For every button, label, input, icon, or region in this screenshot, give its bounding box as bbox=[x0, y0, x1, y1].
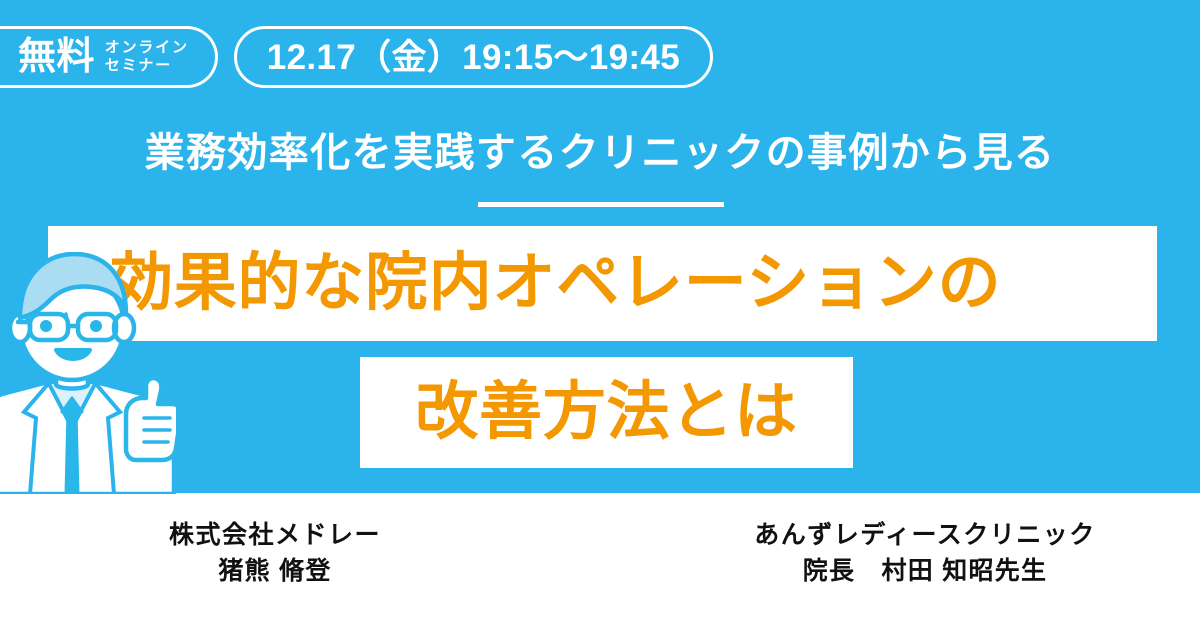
free-badge-sub: オンライン セミナー bbox=[105, 39, 189, 74]
badge-row: 無料 オンライン セミナー 12.17（金）19:15〜19:45 bbox=[0, 26, 713, 88]
free-badge-sub-line2: セミナー bbox=[105, 57, 172, 74]
headline-line-1: 効果的な院内オペレーションの bbox=[110, 252, 1001, 315]
speaker-left: 株式会社メドレー 猪熊 脩登 bbox=[60, 517, 490, 590]
headline-band-1: 効果的な院内オペレーションの bbox=[48, 226, 1157, 341]
free-badge-sub-line1: オンライン bbox=[105, 39, 189, 56]
free-badge-main: 無料 bbox=[18, 38, 95, 76]
subtitle-divider bbox=[478, 202, 724, 207]
speakers-section: 株式会社メドレー 猪熊 脩登 あんずレディースクリニック 院長 村田 知昭先生 bbox=[0, 493, 1200, 630]
subtitle: 業務効率化を実践するクリニックの事例から見る bbox=[0, 130, 1200, 176]
headline-line-2: 改善方法とは bbox=[415, 381, 798, 444]
speaker-right-org: あんずレディースクリニック bbox=[710, 517, 1140, 553]
webinar-banner: 無料 オンライン セミナー 12.17（金）19:15〜19:45 業務効率化を… bbox=[0, 0, 1200, 630]
free-seminar-badge: 無料 オンライン セミナー bbox=[0, 26, 218, 88]
speaker-right-person: 院長 村田 知昭先生 bbox=[710, 553, 1140, 589]
date-time-text: 12.17（金）19:15〜19:45 bbox=[267, 40, 680, 75]
speaker-left-person: 猪熊 脩登 bbox=[60, 553, 490, 589]
doctor-illustration bbox=[0, 252, 176, 494]
speaker-left-org: 株式会社メドレー bbox=[60, 517, 490, 553]
date-time-badge: 12.17（金）19:15〜19:45 bbox=[234, 26, 713, 88]
headline-band-2: 改善方法とは bbox=[360, 357, 853, 468]
speaker-right: あんずレディースクリニック 院長 村田 知昭先生 bbox=[710, 517, 1140, 590]
